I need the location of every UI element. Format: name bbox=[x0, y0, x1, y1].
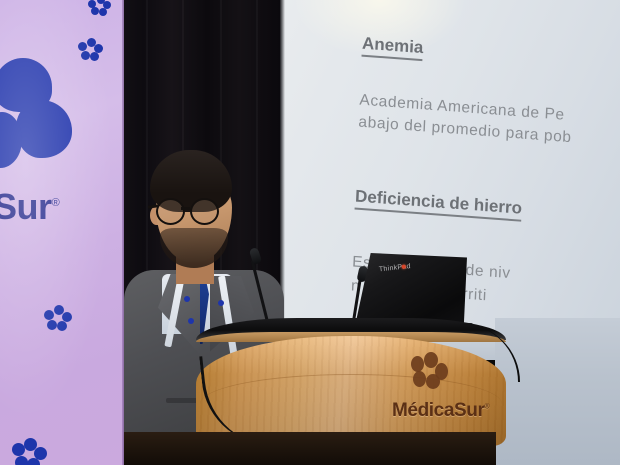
conference-photo-scene: caSur® Anemia Academia Americana de Pe a… bbox=[0, 0, 620, 465]
beard bbox=[160, 228, 228, 268]
banner-brand-text: caSur® bbox=[0, 186, 59, 228]
glasses-lens-right bbox=[190, 198, 219, 225]
medicasur-rollup-banner: caSur® bbox=[0, 0, 128, 465]
eyeglasses bbox=[154, 198, 236, 222]
floor-shadow bbox=[124, 432, 496, 465]
medicasur-flower-logo bbox=[0, 58, 84, 188]
medicasur-flower-logo-small bbox=[78, 38, 104, 64]
medicasur-flower-logo-engraved bbox=[411, 352, 451, 390]
lectern-brand-text: MédicaSur® bbox=[392, 400, 489, 422]
medicasur-flower-logo-small bbox=[45, 305, 71, 331]
lanyard-logo-dot bbox=[188, 318, 194, 324]
medicasur-flower-logo-small bbox=[14, 438, 40, 464]
medicasur-flower-logo-small bbox=[88, 0, 114, 22]
lanyard-logo-dot bbox=[184, 296, 190, 302]
glasses-bridge bbox=[181, 207, 190, 210]
glasses-lens-left bbox=[156, 198, 185, 225]
slide-heading-anemia: Anemia bbox=[361, 34, 423, 61]
wall-right-lower bbox=[495, 318, 620, 465]
lanyard-logo-dot bbox=[218, 300, 224, 306]
slide-heading-deficiencia-de-hierro: Deficiencia de hierro bbox=[355, 186, 523, 221]
